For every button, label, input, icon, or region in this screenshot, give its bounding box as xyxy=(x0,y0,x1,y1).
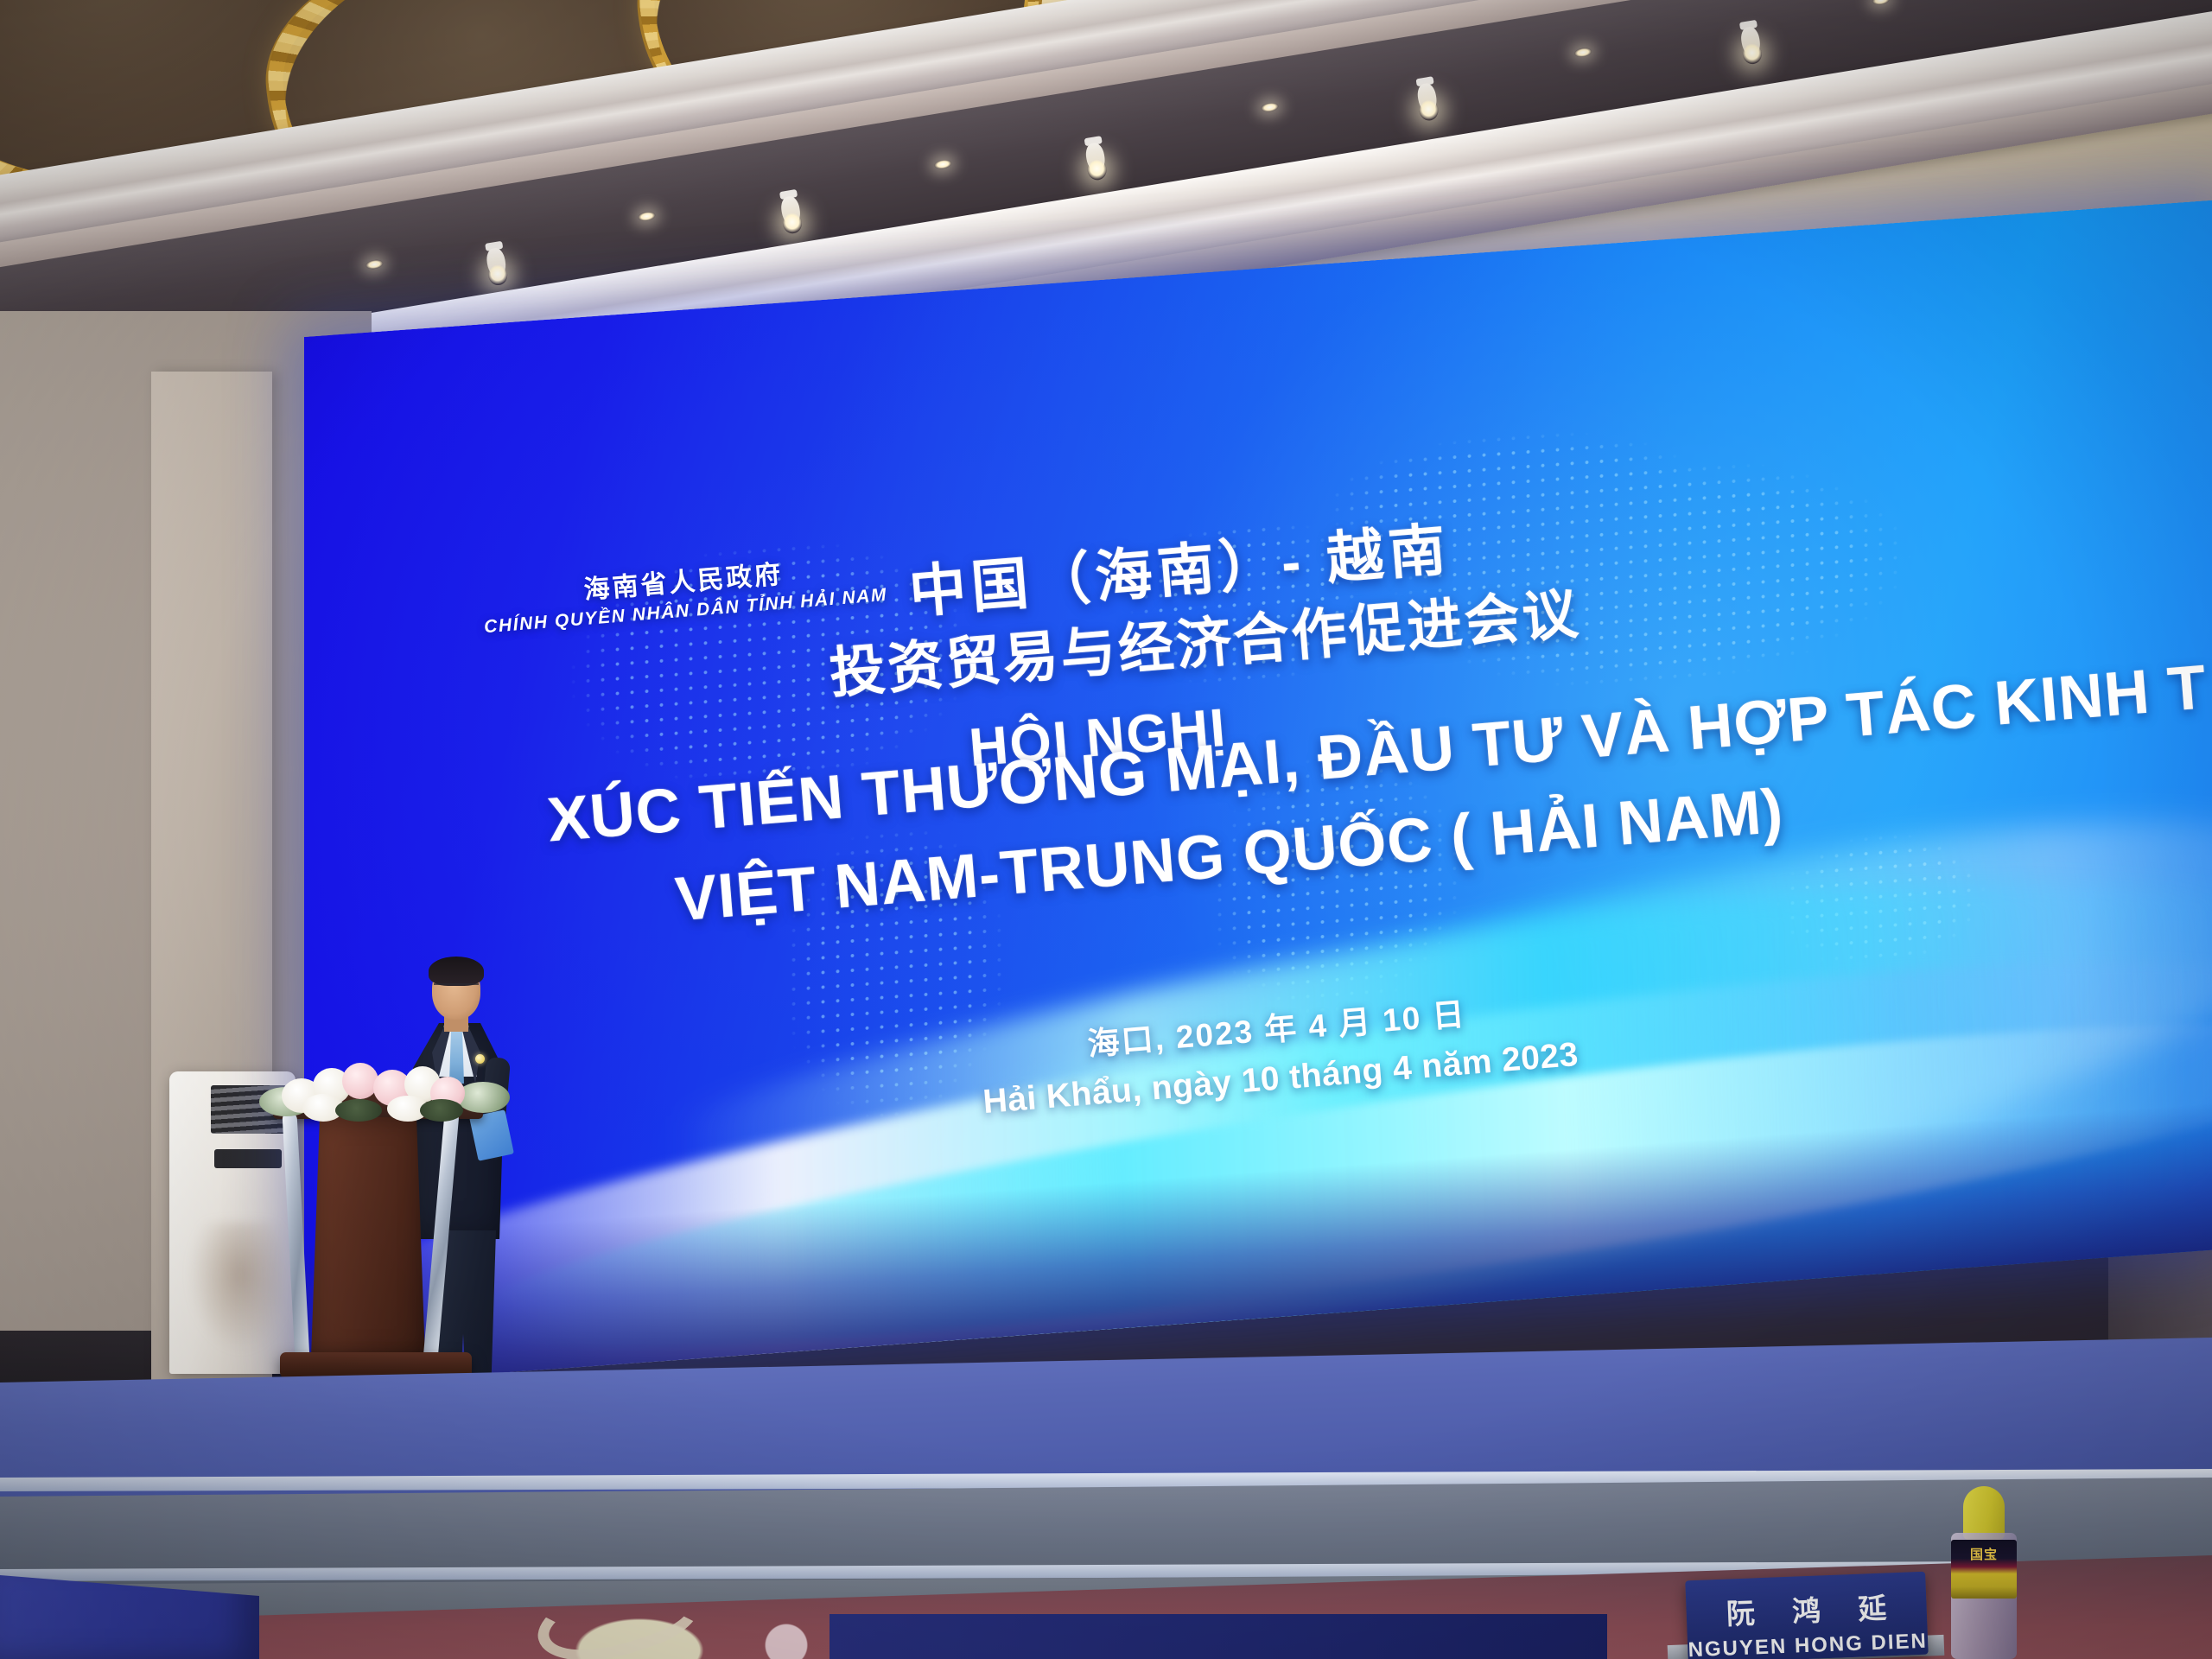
recessed-downlight-icon xyxy=(934,159,952,170)
recessed-downlight-icon xyxy=(638,211,656,222)
drink-bottle: 国宝 xyxy=(1946,1486,2022,1659)
recessed-downlight-icon xyxy=(1872,0,1890,6)
ac-stain xyxy=(188,1223,283,1352)
recessed-downlight-icon xyxy=(1261,102,1279,113)
flower-arrangement xyxy=(259,1056,510,1125)
nameplate-romanized: NGUYEN HONG DIEN xyxy=(1688,1630,1929,1659)
lectern xyxy=(285,1093,471,1382)
track-spotlight-icon xyxy=(1081,136,1111,187)
blue-skirted-table xyxy=(829,1614,1607,1659)
conference-photo-scene: 海南省人民政府 CHÍNH QUYỀN NHÂN DÂN TỈNH HẢI NA… xyxy=(0,0,2212,1659)
nameplate-chinese: 阮 鸿 延 xyxy=(1686,1584,1928,1635)
bottle-brand: 国宝 xyxy=(1951,1545,2017,1563)
conference-date: 海口, 2023 年 4 月 10 日 Hải Khẩu, ngày 10 th… xyxy=(977,979,1580,1122)
track-spotlight-icon xyxy=(1736,20,1766,71)
led-content: 海南省人民政府 CHÍNH QUYỀN NHÂN DÂN TỈNH HẢI NA… xyxy=(304,269,2212,1319)
track-spotlight-icon xyxy=(1413,76,1443,127)
glasses-icon xyxy=(434,983,479,992)
recessed-downlight-icon xyxy=(365,258,384,270)
bottle-label: 国宝 xyxy=(1951,1540,2017,1599)
organizer-logo: 海南省人民政府 CHÍNH QUYỀN NHÂN DÂN TỈNH HẢI NA… xyxy=(475,550,893,638)
track-spotlight-icon xyxy=(776,189,806,240)
led-backdrop-screen: 海南省人民政府 CHÍNH QUYỀN NHÂN DÂN TỈNH HẢI NA… xyxy=(304,200,2212,1387)
delegate-nameplate: 阮 鸿 延 NGUYEN HONG DIEN xyxy=(1685,1572,1928,1659)
lectern-chrome-rail xyxy=(282,1112,309,1361)
ac-display-panel xyxy=(214,1149,282,1168)
lectern-chrome-rail xyxy=(423,1112,459,1361)
track-spotlight-icon xyxy=(481,240,512,291)
recessed-downlight-icon xyxy=(1573,47,1592,58)
